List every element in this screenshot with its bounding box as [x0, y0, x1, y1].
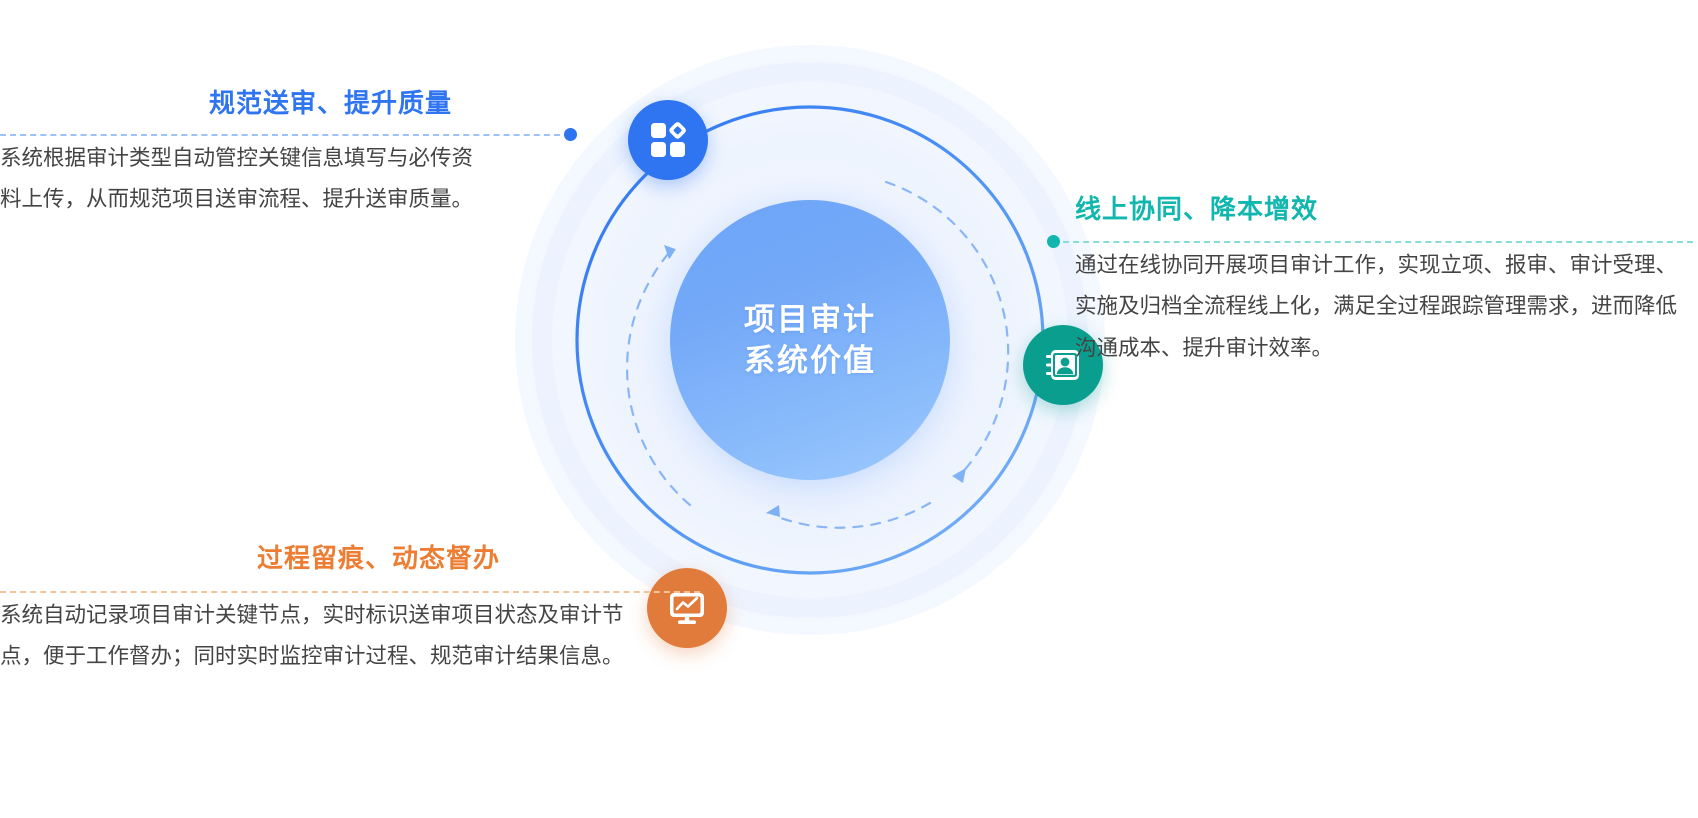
orbit-arrow-bottom: [766, 505, 780, 517]
callout-body-standardize: 系统根据审计类型自动管控关键信息填写与必传资料上传，从而规范项目送审流程、提升送…: [0, 138, 480, 221]
callout-heading-trace: 过程留痕、动态督办: [0, 545, 700, 571]
orbit-arrow-right: [952, 468, 966, 483]
callout-rule-standardize: [0, 134, 570, 136]
callout-trace: 过程留痕、动态督办 系统自动记录项目审计关键节点，实时标识送审项目状态及审计节点…: [0, 545, 700, 678]
callout-endpoint-dot-online: [1047, 235, 1060, 248]
callout-rule-online: [1053, 241, 1693, 243]
core-label: 项目审计 系统价值: [744, 299, 876, 381]
callout-body-trace: 系统自动记录项目审计关键节点，实时标识送审项目状态及审计节点，便于工作督办；同时…: [0, 595, 660, 678]
dashboard-grid-icon: [648, 120, 688, 160]
callout-heading-online: 线上协同、降本增效: [1075, 196, 1695, 222]
orbit-arc-dashed-bottom: [775, 503, 930, 528]
callout-rule-trace: [0, 591, 700, 593]
callout-standardize: 规范送审、提升质量 系统根据审计类型自动管控关键信息填写与必传资料上传，从而规范…: [0, 90, 560, 221]
core-label-line1: 项目审计: [744, 299, 876, 340]
callout-online: 线上协同、降本增效 通过在线协同开展项目审计工作，实现立项、报审、审计受理、实施…: [1075, 196, 1695, 369]
core-circle: 项目审计 系统价值: [670, 200, 950, 480]
callout-endpoint-dot-standardize: [564, 128, 577, 141]
callout-heading-standardize: 规范送审、提升质量: [0, 90, 560, 116]
core-label-line2: 系统价值: [744, 340, 876, 381]
infographic-canvas: 项目审计 系统价值: [0, 0, 1698, 818]
node-badge-standardize[interactable]: [628, 100, 708, 180]
callout-body-online: 通过在线协同开展项目审计工作，实现立项、报审、审计受理、实施及归档全流程线上化，…: [1075, 245, 1685, 369]
